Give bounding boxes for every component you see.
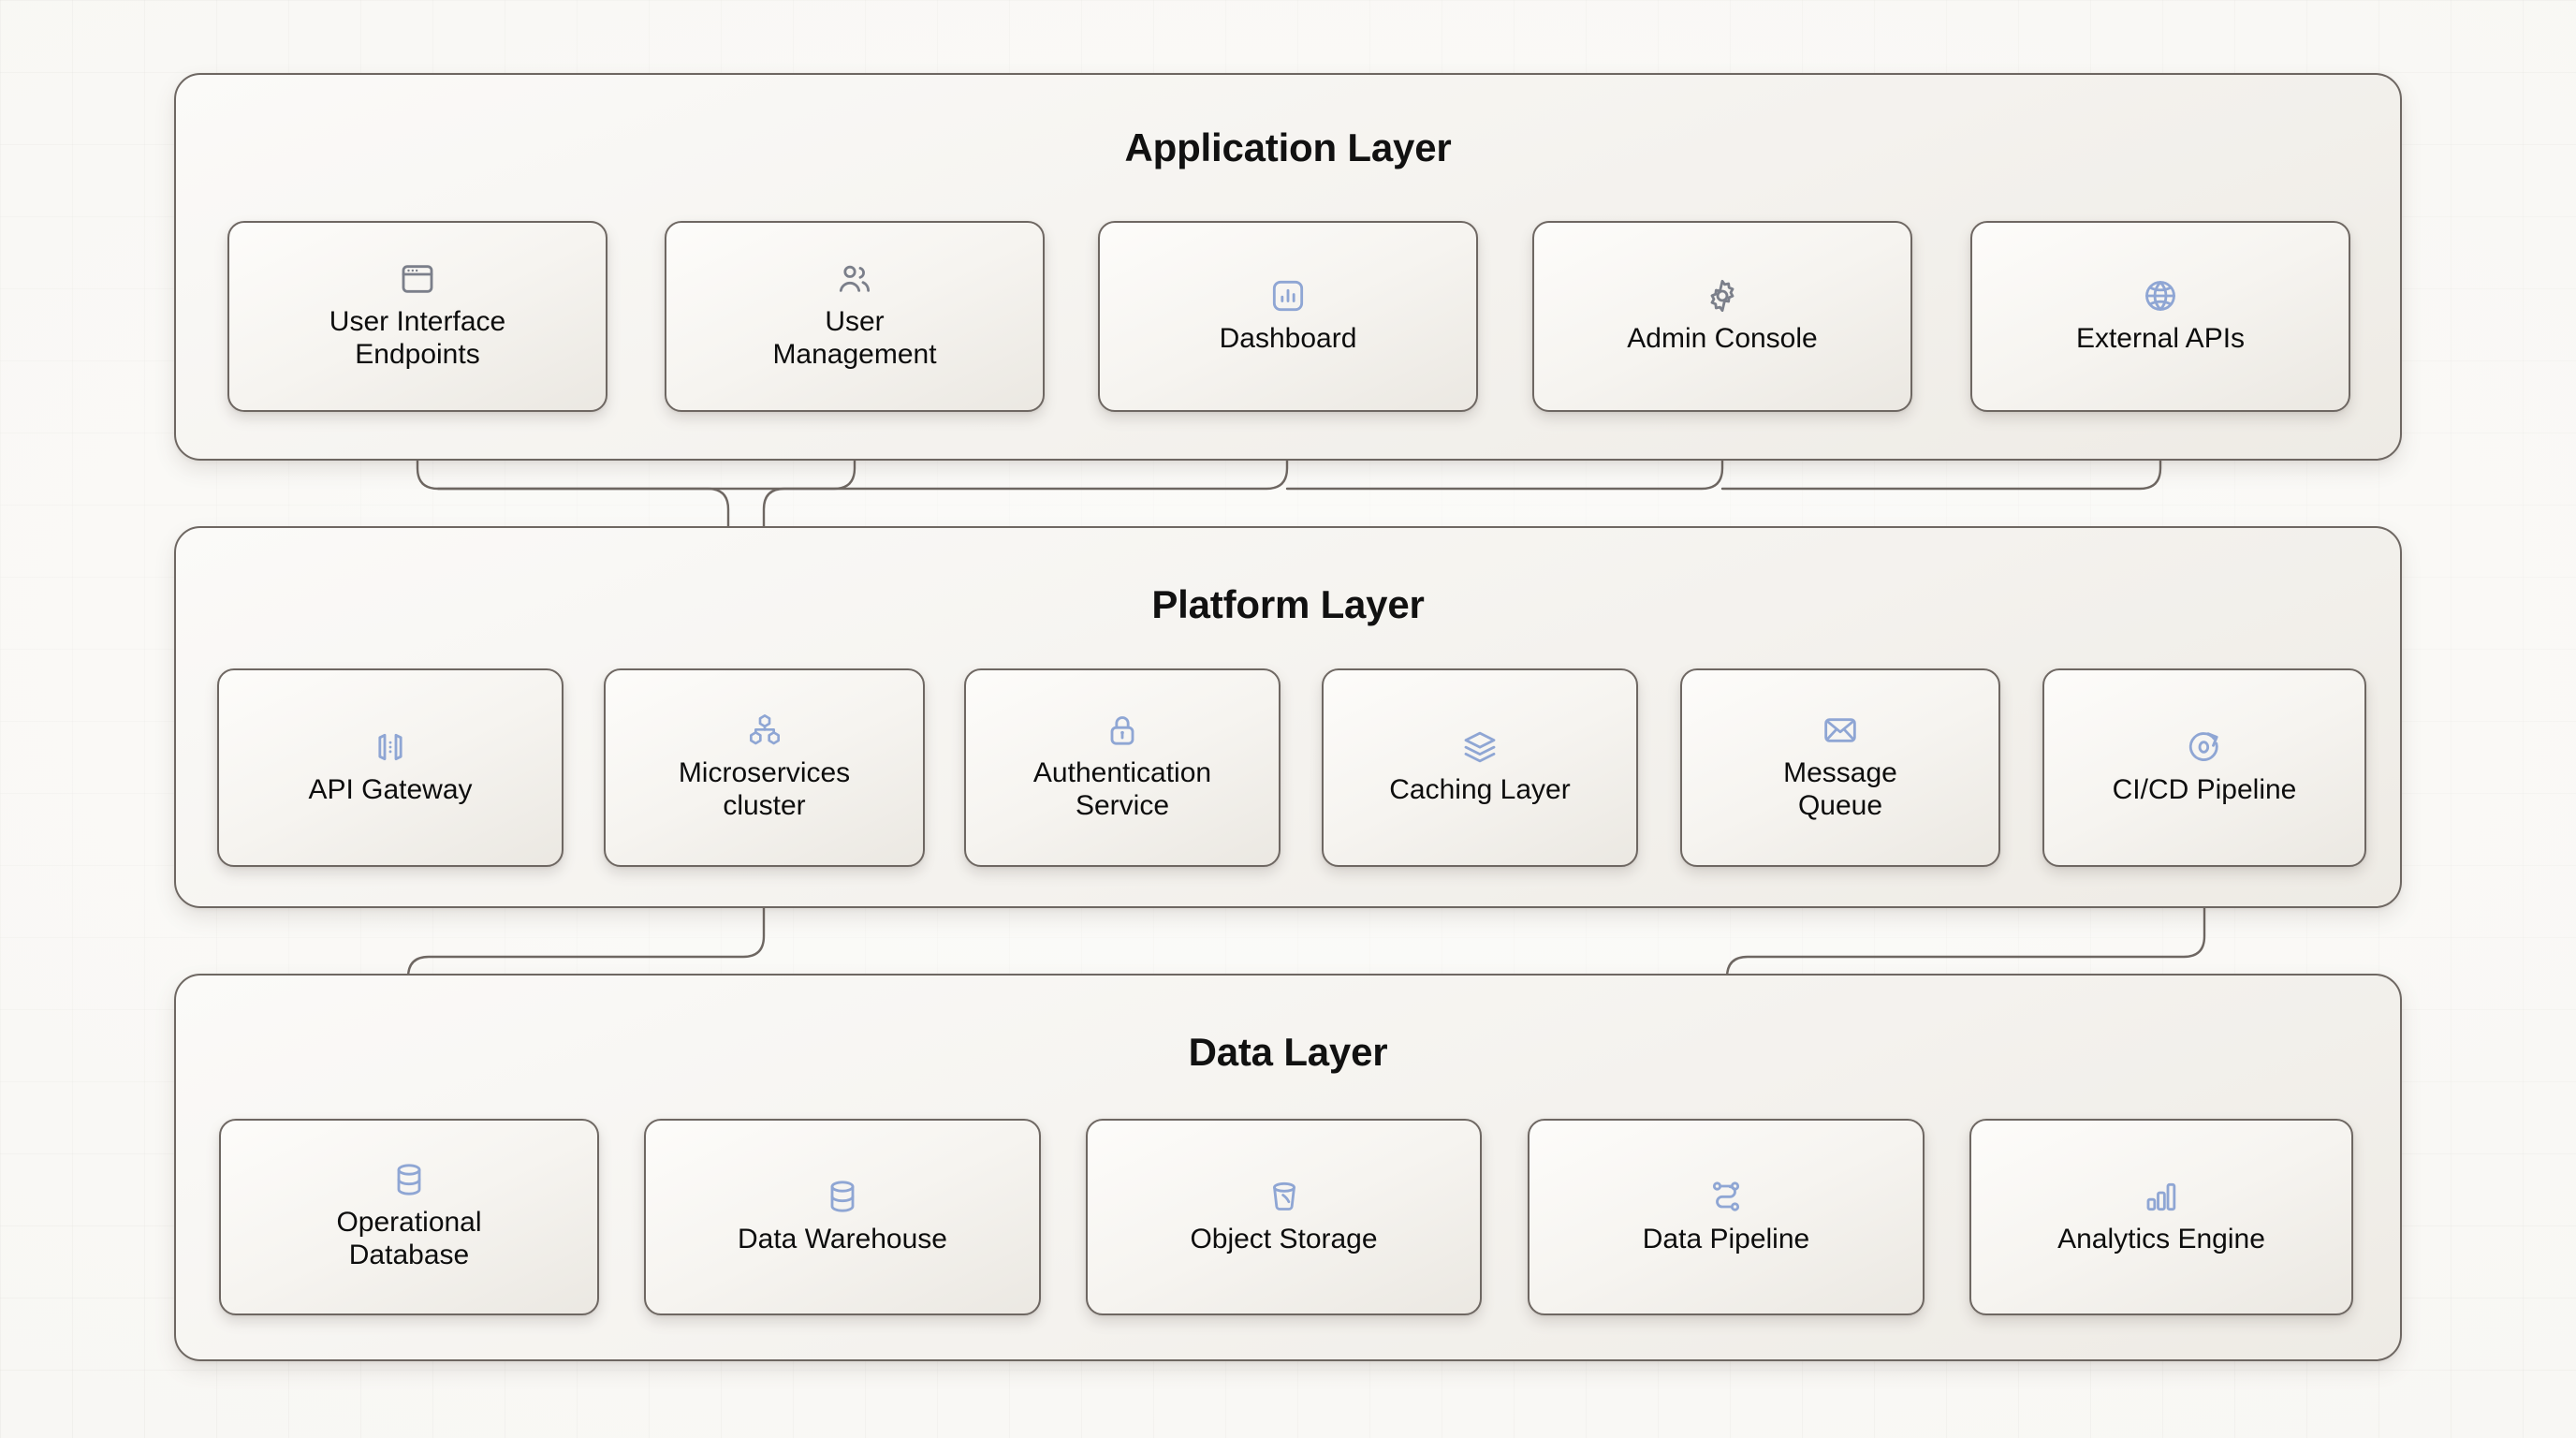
node-label: Microservices cluster xyxy=(679,757,850,823)
node-label: Authentication Service xyxy=(1033,757,1211,823)
node-dashboard[interactable]: Dashboard xyxy=(1098,221,1478,412)
application-layer-title: Application Layer xyxy=(174,125,2402,170)
node-microservices-cluster[interactable]: Microservices cluster xyxy=(604,668,925,867)
node-label: Message Queue xyxy=(1783,757,1897,823)
node-label: Object Storage xyxy=(1190,1224,1377,1256)
bar-chart-square-icon xyxy=(1269,274,1307,317)
globe-icon xyxy=(2142,274,2179,317)
database-icon xyxy=(390,1158,428,1201)
node-authentication-service[interactable]: Authentication Service xyxy=(964,668,1281,867)
users-icon xyxy=(836,257,873,301)
node-caching-layer[interactable]: Caching Layer xyxy=(1322,668,1638,867)
node-cicd-pipeline[interactable]: CI/CD Pipeline xyxy=(2042,668,2366,867)
node-admin-console[interactable]: Admin Console xyxy=(1532,221,1912,412)
network-nodes-icon xyxy=(746,709,783,752)
node-user-management[interactable]: User Management xyxy=(665,221,1045,412)
node-data-pipeline[interactable]: Data Pipeline xyxy=(1528,1119,1925,1315)
node-external-apis[interactable]: External APIs xyxy=(1970,221,2350,412)
node-label: Operational Database xyxy=(336,1207,481,1272)
node-label: Analytics Engine xyxy=(2057,1224,2265,1256)
node-user-interface-endpoints[interactable]: User Interface Endpoints xyxy=(227,221,607,412)
platform-layer-title: Platform Layer xyxy=(174,582,2402,627)
refresh-cycle-icon xyxy=(2186,726,2223,769)
node-label: External APIs xyxy=(2076,323,2245,356)
gear-icon xyxy=(1704,274,1741,317)
layers-icon xyxy=(1461,726,1499,769)
node-label: Data Warehouse xyxy=(738,1224,947,1256)
node-label: User Management xyxy=(772,306,936,372)
data-layer-title: Data Layer xyxy=(174,1030,2402,1075)
node-label: API Gateway xyxy=(308,774,472,807)
node-label: Data Pipeline xyxy=(1643,1224,1809,1256)
node-api-gateway[interactable]: API Gateway xyxy=(217,668,563,867)
database-icon xyxy=(824,1175,861,1218)
envelope-icon xyxy=(1822,709,1859,752)
node-label: Caching Layer xyxy=(1389,774,1570,807)
node-message-queue[interactable]: Message Queue xyxy=(1680,668,2000,867)
node-data-warehouse[interactable]: Data Warehouse xyxy=(644,1119,1041,1315)
git-branch-icon xyxy=(1707,1175,1745,1218)
lock-icon xyxy=(1104,709,1141,752)
node-operational-database[interactable]: Operational Database xyxy=(219,1119,599,1315)
node-object-storage[interactable]: Object Storage xyxy=(1086,1119,1482,1315)
diagram-canvas: Application Layer User Interface Endpoin… xyxy=(0,0,2576,1438)
app-window-icon xyxy=(399,257,436,301)
gateway-icon xyxy=(372,726,409,769)
node-analytics-engine[interactable]: Analytics Engine xyxy=(1969,1119,2353,1315)
bucket-icon xyxy=(1266,1175,1303,1218)
node-label: Admin Console xyxy=(1627,323,1817,356)
bar-chart-icon xyxy=(2143,1175,2180,1218)
node-label: Dashboard xyxy=(1220,323,1357,356)
node-label: User Interface Endpoints xyxy=(329,306,505,372)
node-label: CI/CD Pipeline xyxy=(2113,774,2297,807)
